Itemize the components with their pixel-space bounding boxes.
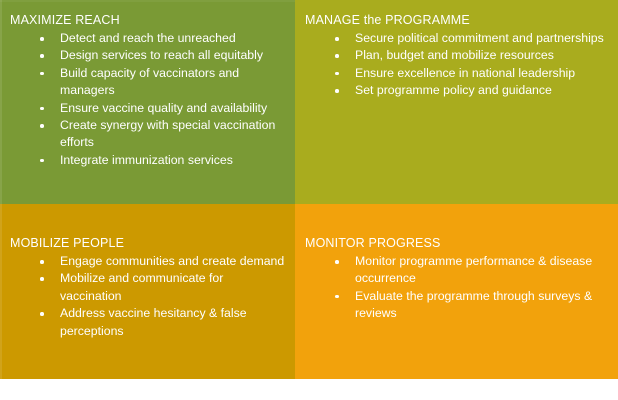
list-item-label: Engage communities and create demand: [60, 253, 285, 270]
quadrant-title-mobilize-people: MOBILIZE PEOPLE: [10, 236, 285, 251]
list-item: Build capacity of vaccinators and manage…: [10, 65, 285, 100]
bullet-dot-icon: [335, 260, 339, 264]
bullet-dot-icon: [40, 124, 44, 128]
bullet-dot-icon: [335, 54, 339, 58]
quadrant-monitor-progress: MONITOR PROGRESS Monitor programme perfo…: [295, 204, 618, 379]
bullet-list-maximize-reach: Detect and reach the unreached Design se…: [10, 30, 285, 169]
bullet-dot-icon: [40, 277, 44, 281]
list-item: Set programme policy and guidance: [305, 82, 608, 99]
list-item-label: Create synergy with special vaccination …: [60, 117, 285, 152]
quadrant-title-monitor-progress: MONITOR PROGRESS: [305, 236, 608, 251]
list-item-label: Mobilize and communicate for vaccination: [60, 270, 285, 305]
list-item: Ensure excellence in national leadership: [305, 65, 608, 82]
list-item: Detect and reach the unreached: [10, 30, 285, 47]
list-item-label: Integrate immunization services: [60, 152, 285, 169]
list-item-label: Ensure vaccine quality and availability: [60, 100, 285, 117]
bullet-list-monitor-progress: Monitor programme performance & disease …: [305, 253, 608, 323]
bullet-dot-icon: [335, 72, 339, 76]
list-item: Integrate immunization services: [10, 152, 285, 169]
bullet-dot-icon: [40, 312, 44, 316]
quadrant-title-maximize-reach: MAXIMIZE REACH: [10, 13, 285, 28]
list-item-label: Secure political commitment and partners…: [355, 30, 608, 47]
list-item: Engage communities and create demand: [10, 253, 285, 270]
list-item: Plan, budget and mobilize resources: [305, 47, 608, 64]
list-item-label: Plan, budget and mobilize resources: [355, 47, 608, 64]
quadrant-maximize-reach: MAXIMIZE REACH Detect and reach the unre…: [0, 0, 295, 204]
list-item-label: Ensure excellence in national leadership: [355, 65, 608, 82]
list-item: Create synergy with special vaccination …: [10, 117, 285, 152]
bullet-dot-icon: [40, 260, 44, 264]
bullet-dot-icon: [40, 54, 44, 58]
list-item-label: Evaluate the programme through surveys &…: [355, 288, 608, 323]
quadrant-mobilize-people: MOBILIZE PEOPLE Engage communities and c…: [0, 204, 295, 379]
list-item-label: Detect and reach the unreached: [60, 30, 285, 47]
bullet-list-manage-the-programme: Secure political commitment and partners…: [305, 30, 608, 100]
strategy-matrix: MAXIMIZE REACH Detect and reach the unre…: [0, 0, 618, 379]
quadrant-manage-the-programme: MANAGE the PROGRAMME Secure political co…: [295, 0, 618, 204]
list-item: Design services to reach all equitably: [10, 47, 285, 64]
bullet-dot-icon: [40, 72, 44, 76]
bullet-dot-icon: [40, 107, 44, 111]
bullet-dot-icon: [40, 37, 44, 41]
list-item: Ensure vaccine quality and availability: [10, 100, 285, 117]
list-item: Secure political commitment and partners…: [305, 30, 608, 47]
list-item: Address vaccine hesitancy & false percep…: [10, 305, 285, 340]
list-item-label: Design services to reach all equitably: [60, 47, 285, 64]
quadrant-title-manage-the-programme: MANAGE the PROGRAMME: [305, 13, 608, 28]
list-item-label: Build capacity of vaccinators and manage…: [60, 65, 285, 100]
bullet-dot-icon: [40, 159, 44, 163]
list-item-label: Set programme policy and guidance: [355, 82, 608, 99]
bullet-list-mobilize-people: Engage communities and create demand Mob…: [10, 253, 285, 340]
list-item-label: Address vaccine hesitancy & false percep…: [60, 305, 285, 340]
list-item: Mobilize and communicate for vaccination: [10, 270, 285, 305]
bullet-dot-icon: [335, 89, 339, 93]
bullet-dot-icon: [335, 295, 339, 299]
list-item-label: Monitor programme performance & disease …: [355, 253, 608, 288]
bullet-dot-icon: [335, 37, 339, 41]
list-item: Evaluate the programme through surveys &…: [305, 288, 608, 323]
list-item: Monitor programme performance & disease …: [305, 253, 608, 288]
